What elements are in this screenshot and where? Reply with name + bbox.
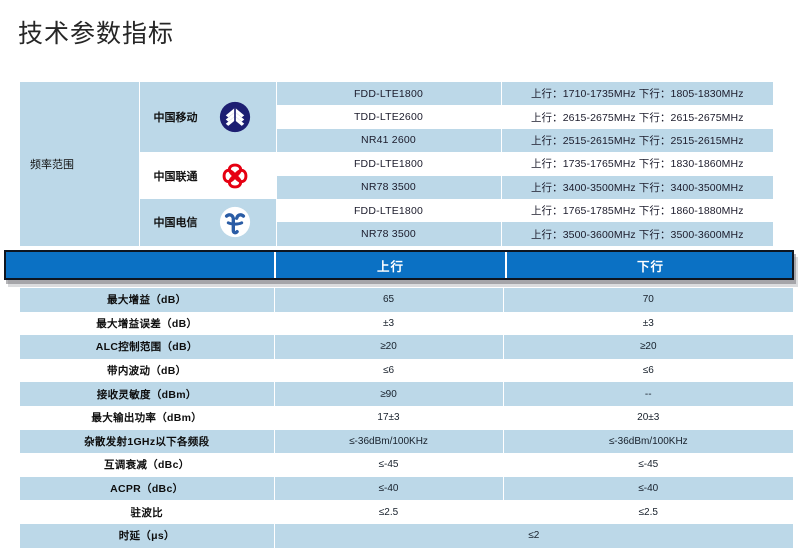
frequency-range-value: 上行：3400-3500MHz 下行：3400-3500MHz xyxy=(501,176,773,199)
tech-label: FDD-LTE1800 xyxy=(276,199,501,222)
spec-uplink-value: ≤-40 xyxy=(274,477,503,501)
specification-table-body: 最大增益（dB） 65 70 最大增益误差（dB） ±3 ±3 ALC控制范围（… xyxy=(20,288,793,548)
table-row: ACPR（dBc） ≤-40 ≤-40 xyxy=(20,477,793,501)
spec-param-label: 接收灵敏度（dBm） xyxy=(20,382,274,406)
row-header-frequency-range: 频率范围 xyxy=(20,82,139,246)
spec-param-label: 最大输出功率（dBm） xyxy=(20,406,274,430)
frequency-range-value: 上行：2615-2675MHz 下行：2615-2675MHz xyxy=(501,105,773,128)
tech-label: FDD-LTE1800 xyxy=(276,82,501,105)
spec-param-label: 驻波比 xyxy=(20,500,274,524)
spec-downlink-value: ≤-40 xyxy=(503,477,793,501)
carrier-name-label: 中国电信 xyxy=(154,214,198,230)
table-row: 最大增益（dB） 65 70 xyxy=(20,288,793,312)
carrier-name-label: 中国联通 xyxy=(154,168,198,184)
banner-blank-cell xyxy=(6,252,274,278)
spec-downlink-value: ≤6 xyxy=(503,359,793,383)
spec-downlink-value: ≤-45 xyxy=(503,453,793,477)
frequency-range-value: 上行：1765-1785MHz 下行：1860-1880MHz xyxy=(501,199,773,222)
table-row: 互调衰减（dBc） ≤-45 ≤-45 xyxy=(20,453,793,477)
banner-separator-2 xyxy=(505,252,507,278)
spec-downlink-value: 70 xyxy=(503,288,793,312)
table-row: 驻波比 ≤2.5 ≤2.5 xyxy=(20,500,793,524)
frequency-range-value: 上行：3500-3600MHz 下行：3500-3600MHz xyxy=(501,222,773,245)
spec-table-header-banner: 上行 下行 xyxy=(4,250,794,280)
spec-uplink-value: 17±3 xyxy=(274,406,503,430)
spec-param-label: ALC控制范围（dB） xyxy=(20,335,274,359)
carrier-cell-china-telecom: 中国电信 xyxy=(139,199,276,246)
spec-param-label: ACPR（dBc） xyxy=(20,477,274,501)
spec-param-label: 杂散发射1GHz以下各频段 xyxy=(20,430,274,454)
table-row: ALC控制范围（dB） ≥20 ≥20 xyxy=(20,335,793,359)
spec-uplink-value: ≤6 xyxy=(274,359,503,383)
tech-label: FDD-LTE1800 xyxy=(276,152,501,175)
spec-uplink-value: 65 xyxy=(274,288,503,312)
spec-downlink-value: -- xyxy=(503,382,793,406)
table-row: 带内波动（dB） ≤6 ≤6 xyxy=(20,359,793,383)
banner-separator-1 xyxy=(274,252,276,278)
banner-uplink-label: 上行 xyxy=(278,252,503,278)
table-row: 接收灵敏度（dBm） ≥90 -- xyxy=(20,382,793,406)
frequency-range-table: 频率范围 中国移动 FDD-LTE1800 上 xyxy=(20,82,773,246)
carrier-name-label: 中国移动 xyxy=(154,109,198,125)
spec-merged-value: ≤2 xyxy=(274,524,793,548)
spec-param-label: 最大增益误差（dB） xyxy=(20,312,274,336)
frequency-range-value: 上行：1710-1735MHz 下行：1805-1830MHz xyxy=(501,82,773,105)
spec-uplink-value: ≤2.5 xyxy=(274,500,503,524)
spec-downlink-value: ≤-36dBm/100KHz xyxy=(503,430,793,454)
table-row: 时延（μs） ≤2 xyxy=(20,524,793,548)
spec-downlink-value: 20±3 xyxy=(503,406,793,430)
tech-label: TDD-LTE2600 xyxy=(276,105,501,128)
spec-downlink-value: ±3 xyxy=(503,312,793,336)
spec-param-label: 带内波动（dB） xyxy=(20,359,274,383)
frequency-range-body: 频率范围 中国移动 FDD-LTE1800 上 xyxy=(20,82,773,246)
spec-uplink-value: ≥20 xyxy=(274,335,503,359)
china-unicom-logo xyxy=(214,155,256,197)
tech-label: NR78 3500 xyxy=(276,176,501,199)
china-telecom-logo xyxy=(214,201,256,243)
frequency-range-value: 上行：2515-2615MHz 下行：2515-2615MHz xyxy=(501,129,773,152)
tech-label: NR41 2600 xyxy=(276,129,501,152)
spec-uplink-value: ≤-36dBm/100KHz xyxy=(274,430,503,454)
spec-uplink-value: ≥90 xyxy=(274,382,503,406)
spec-uplink-value: ±3 xyxy=(274,312,503,336)
spec-downlink-value: ≤2.5 xyxy=(503,500,793,524)
carrier-cell-china-mobile: 中国移动 xyxy=(139,82,276,152)
banner-downlink-label: 下行 xyxy=(509,252,792,278)
table-row: 最大增益误差（dB） ±3 ±3 xyxy=(20,312,793,336)
spec-downlink-value: ≥20 xyxy=(503,335,793,359)
spec-param-label: 互调衰减（dBc） xyxy=(20,453,274,477)
spec-param-label: 最大增益（dB） xyxy=(20,288,274,312)
tech-label: NR78 3500 xyxy=(276,222,501,245)
table-row: 杂散发射1GHz以下各频段 ≤-36dBm/100KHz ≤-36dBm/100… xyxy=(20,430,793,454)
specification-table: 最大增益（dB） 65 70 最大增益误差（dB） ±3 ±3 ALC控制范围（… xyxy=(20,288,793,548)
china-mobile-logo xyxy=(214,96,256,138)
carrier-cell-china-unicom: 中国联通 xyxy=(139,152,276,199)
spec-uplink-value: ≤-45 xyxy=(274,453,503,477)
page-title: 技术参数指标 xyxy=(18,17,174,51)
table-row: 频率范围 中国移动 FDD-LTE1800 上 xyxy=(20,82,773,105)
spec-param-label: 时延（μs） xyxy=(20,524,274,548)
frequency-range-value: 上行：1735-1765MHz 下行：1830-1860MHz xyxy=(501,152,773,175)
table-row: 最大输出功率（dBm） 17±3 20±3 xyxy=(20,406,793,430)
